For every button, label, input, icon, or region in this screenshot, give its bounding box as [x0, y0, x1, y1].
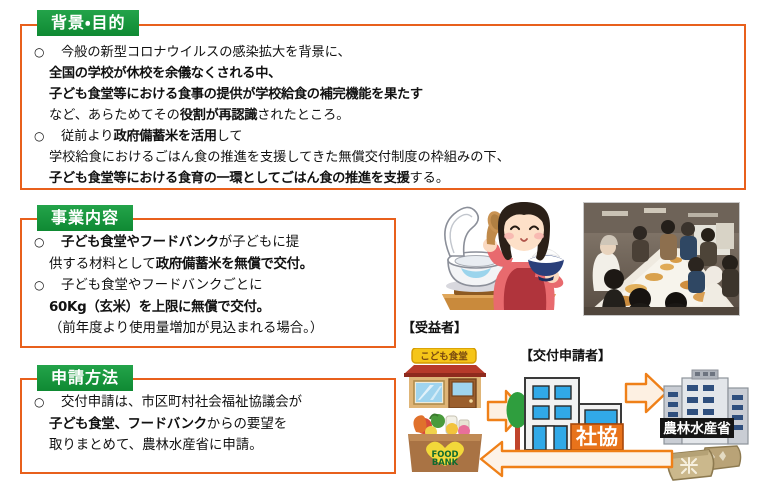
ministry-building-icon: 農林水産省 — [660, 368, 752, 450]
body-line: ○子ども食堂やフードバンクが子どもに提 — [34, 232, 323, 254]
section-badge-apply: 申請方法 — [37, 365, 133, 391]
text-run: 取りまとめて、農林水産省に申請。 — [49, 438, 263, 453]
section-body-apply: ○交付申請は、市区町村社会福祉協議会が 子ども食堂、フードバンクからの要望を 取… — [34, 392, 302, 457]
section-badge-business: 事業内容 — [37, 205, 133, 231]
body-line: ○交付申請は、市区町村社会福祉協議会が — [34, 392, 302, 414]
body-line: 子ども食堂等における食事の提供が学校給食の補完機能を果たす — [34, 84, 510, 105]
body-line: ○子ども食堂やフードバンクごとに — [34, 275, 323, 297]
applicant-label: 【交付申請者】 — [520, 345, 611, 364]
text-run: （前年度より使用量増加が見込まれる場合。） — [49, 321, 323, 336]
body-line: 子ども食堂等における食育の一環としてごはん食の推進を支援する。 — [34, 168, 510, 189]
body-line: 取りまとめて、農林水産省に申請。 — [34, 435, 302, 457]
bullet-spacer — [34, 297, 49, 319]
bullet-spacer — [34, 435, 49, 457]
body-line: ○今般の新型コロナウイルスの感染拡大を背景に、 — [34, 42, 510, 63]
body-line: ○従前より政府備蓄米を活用して — [34, 126, 510, 147]
bullet-spacer — [34, 318, 49, 340]
body-line: など、あらためてその役割が再認識されたところ。 — [34, 105, 510, 126]
text-run: 供する材料として — [49, 257, 156, 272]
text-run-bold: 子ども食堂、フードバンク — [49, 417, 207, 432]
arrow-left-icon — [478, 440, 674, 478]
body-line: 学校給食におけるごはん食の推進を支援してきた無償交付制度の枠組みの下、 — [34, 147, 510, 168]
text-run: からの要望を — [207, 417, 287, 432]
beneficiary-label: 【受益者】 — [402, 317, 467, 336]
infographic-page: 背景・目的 ○今般の新型コロナウイルスの感染拡大を背景に、 全国の学校が休校を余… — [0, 0, 760, 490]
text-run: が子どもに提 — [219, 235, 299, 250]
bullet-spacer — [34, 147, 49, 168]
bullet-spacer — [34, 254, 49, 276]
body-line: 60Kg（玄米）を上限に無償で交付。 — [34, 297, 323, 319]
shop-sign-text: こども食堂 — [420, 351, 468, 363]
text-run: する。 — [409, 171, 449, 186]
section-badge-background: 背景・目的 — [37, 10, 139, 36]
text-run-bold: 政府備蓄米を活用 — [114, 129, 217, 144]
text-run-bold: 子ども食堂等における食事の提供が学校給食の補完機能を果たす — [49, 87, 423, 102]
maff-sign-text: 農林水産省 — [663, 420, 731, 437]
section-body-business: ○子ども食堂やフードバンクが子どもに提 供する材料として政府備蓄米を無償で交付。… — [34, 232, 323, 340]
bullet-marker: ○ — [34, 232, 49, 254]
text-run: 従前より — [61, 129, 114, 144]
text-run-bold: 政府備蓄米を無償で交付。 — [156, 257, 313, 272]
text-run: されたところ。 — [257, 108, 349, 123]
bullet-marker: ○ — [34, 42, 49, 63]
text-run-bold: 子ども食堂やフードバンク — [61, 235, 219, 250]
text-run-bold: 子ども食堂等における食育の一環としてごはん食の推進を支援 — [49, 171, 409, 186]
text-run-bold: 全国の学校が休校を余儀なくされる中、 — [49, 66, 281, 81]
kodomo-shokudo-shop-icon: こども食堂 — [400, 348, 490, 408]
bullet-spacer — [34, 63, 49, 84]
text-run: など、あらためてその — [49, 108, 180, 123]
text-run: 学校給食におけるごはん食の推進を支援してきた無償交付制度の枠組みの下、 — [49, 150, 510, 165]
section-body-background: ○今般の新型コロナウイルスの感染拡大を背景に、 全国の学校が休校を余儀なくされる… — [34, 42, 510, 189]
text-run-bold: 60Kg（玄米）を上限に無償で交付。 — [49, 300, 270, 315]
text-run: 今般の新型コロナウイルスの感染拡大を背景に、 — [61, 45, 351, 60]
text-run-bold: 役割が再認識 — [180, 108, 257, 123]
bullet-marker: ○ — [34, 392, 49, 414]
foodbank-sign-line2: BANK — [432, 457, 459, 467]
bullet-spacer — [34, 414, 49, 436]
cafeteria-photo — [583, 202, 740, 316]
bullet-marker: ○ — [34, 275, 49, 297]
text-run: して — [217, 129, 243, 144]
bullet-spacer — [34, 168, 49, 189]
bullet-spacer — [34, 105, 49, 126]
body-line: 全国の学校が休校を余儀なくされる中、 — [34, 63, 510, 84]
body-line: （前年度より使用量増加が見込まれる場合。） — [34, 318, 323, 340]
bullet-marker: ○ — [34, 126, 49, 147]
body-line: 供する材料として政府備蓄米を無償で交付。 — [34, 254, 323, 276]
rice-bag-icon — [665, 440, 743, 482]
body-line: 子ども食堂、フードバンクからの要望を — [34, 414, 302, 436]
cook-with-rice-icon — [424, 198, 574, 318]
bullet-spacer — [34, 84, 49, 105]
text-run: 子ども食堂やフードバンクごとに — [61, 278, 263, 293]
text-run: 交付申請は、市区町村社会福祉協議会が — [61, 395, 302, 410]
food-bank-box-icon: FOOD BANK — [400, 410, 490, 474]
